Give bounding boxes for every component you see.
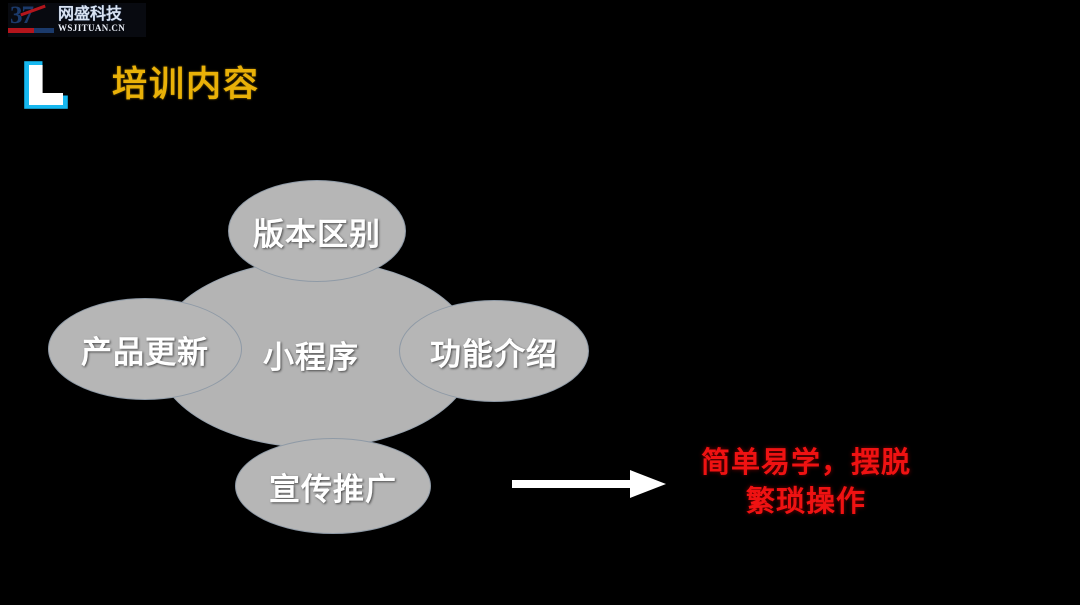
diagram-node-right[interactable]: 功能介绍 [399, 300, 589, 402]
arrow-head [630, 470, 666, 498]
callout-line-2: 繁琐操作 [676, 483, 936, 522]
cluster-diagram: 小程序 版本区别 产品更新 功能介绍 宣传推广 [0, 0, 640, 605]
diagram-node-top[interactable]: 版本区别 [228, 180, 406, 282]
arrow-shaft [512, 480, 638, 488]
right-arrow-icon [512, 470, 667, 498]
diagram-node-label: 功能介绍 [430, 329, 558, 374]
diagram-core-label: 小程序 [263, 332, 359, 377]
callout-line-1: 简单易学，摆脱 [701, 447, 911, 479]
diagram-node-label: 宣传推广 [269, 464, 397, 509]
callout-text: 简单易学，摆脱 繁琐操作 [676, 444, 936, 522]
diagram-node-bottom[interactable]: 宣传推广 [235, 438, 431, 534]
diagram-node-label: 版本区别 [253, 209, 381, 254]
presentation-slide: 37 网盛科技 WSJITUAN.CN 培训内容 小程序 版本区别 产品更新 功… [0, 0, 1080, 605]
diagram-node-label: 产品更新 [81, 327, 209, 372]
diagram-node-left[interactable]: 产品更新 [48, 298, 242, 400]
